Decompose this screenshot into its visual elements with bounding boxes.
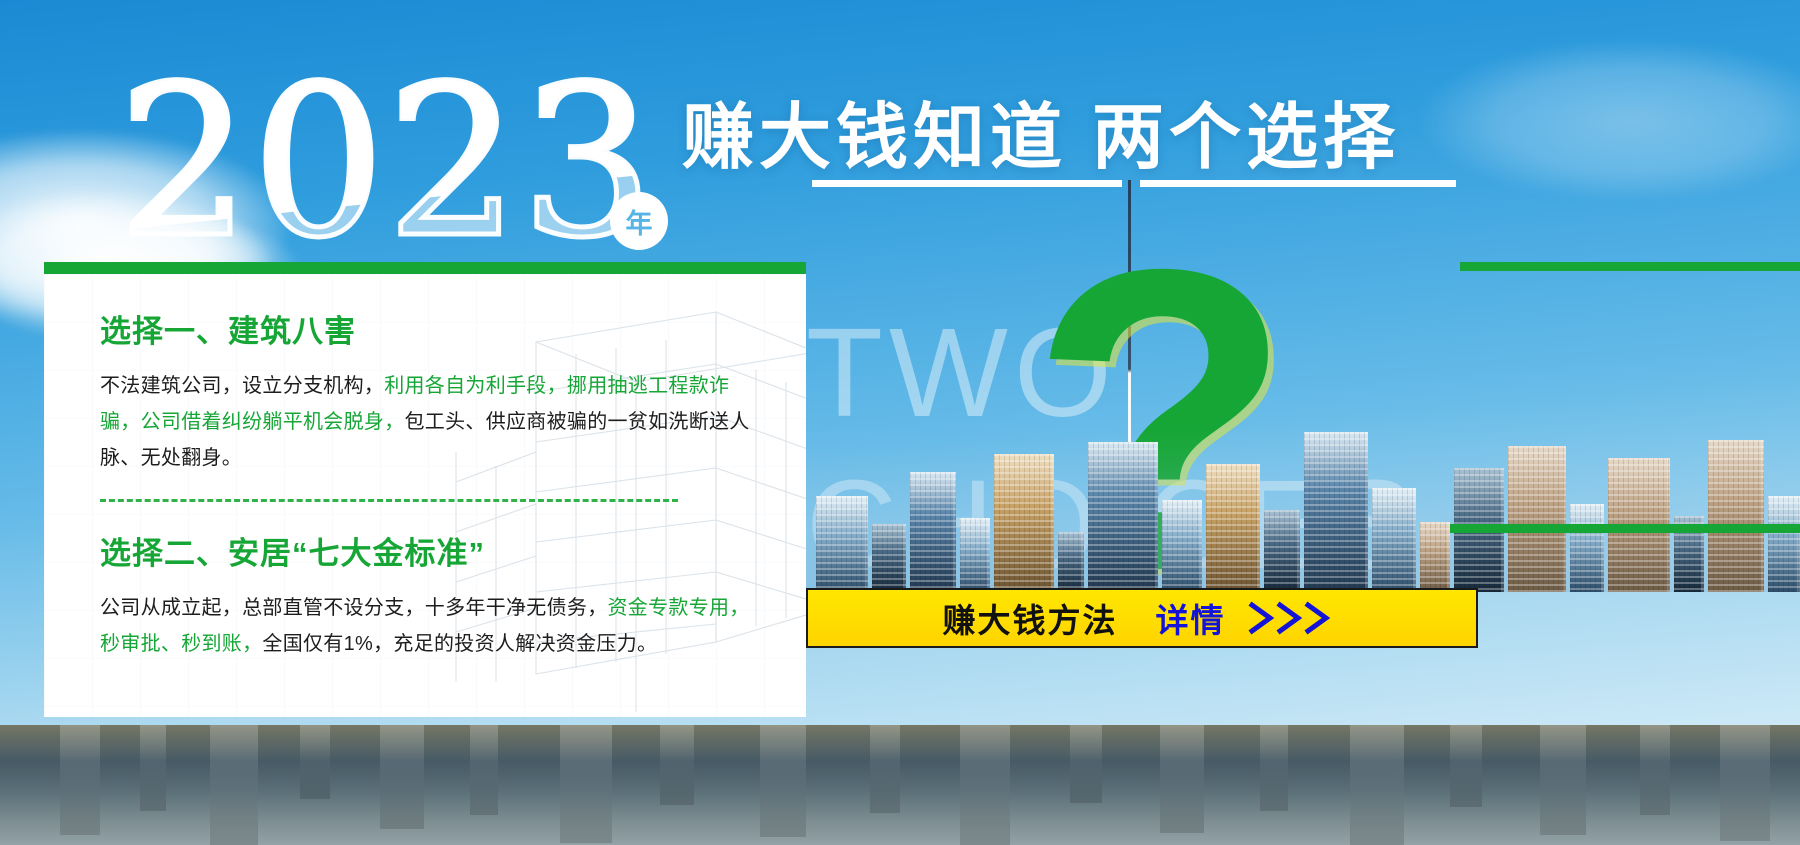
cta-main-label: 赚大钱方法	[943, 594, 1118, 642]
green-accent-bar-top	[1460, 262, 1800, 271]
year-fill-text: 2023	[118, 58, 655, 268]
section-body: 不法建筑公司，设立分支机构，利用各自为利手段，挪用抽逃工程款诈骗，公司借着纠纷躺…	[100, 368, 764, 476]
cta-link-label[interactable]: 详情	[1156, 594, 1226, 642]
section-title: 选择一、建筑八害	[100, 306, 764, 351]
watermark-two: TWO	[806, 300, 1118, 445]
cityscape-image	[806, 430, 1800, 592]
bottom-reflection-strip	[0, 725, 1800, 845]
year-graphic: 2023 2023	[118, 58, 698, 273]
headline-rule-right	[1140, 180, 1456, 187]
cloud-decoration	[1420, 40, 1800, 200]
year-unit-badge: 年	[610, 192, 668, 250]
green-accent-bar-bottom	[1450, 524, 1800, 533]
cta-banner[interactable]: 赚大钱方法 详情	[806, 588, 1478, 648]
poster-root: 2023 2023 年 赚大钱知道 两个选择 TWO CHOICES ?	[0, 0, 1800, 845]
section-choice-one: 选择一、建筑八害 不法建筑公司，设立分支机构，利用各自为利手段，挪用抽逃工程款诈…	[100, 306, 764, 476]
section-body-part: 全国仅有1%，充足的投资人解决资金压力。	[262, 633, 657, 655]
section-divider	[100, 499, 678, 502]
section-body-part: 公司从成立起，总部直管不设分支，十多年干净无债务，	[100, 597, 608, 619]
headline-rule-left	[812, 180, 1122, 187]
section-body: 公司从成立起，总部直管不设分支，十多年干净无债务，资金专款专用，秒审批、秒到账，…	[100, 590, 764, 662]
card-content: 选择一、建筑八害 不法建筑公司，设立分支机构，利用各自为利手段，挪用抽逃工程款诈…	[44, 262, 806, 662]
section-body-part: 不法建筑公司，设立分支机构，	[100, 375, 384, 397]
bottom-glow	[0, 725, 1800, 761]
section-choice-two: 选择二、安居“七大金标准” 公司从成立起，总部直管不设分支，十多年干净无债务，资…	[100, 528, 764, 662]
section-title: 选择二、安居“七大金标准”	[100, 528, 764, 573]
year-outline-text: 2023	[118, 58, 698, 268]
content-card: 选择一、建筑八害 不法建筑公司，设立分支机构，利用各自为利手段，挪用抽逃工程款诈…	[44, 262, 806, 717]
chevron-right-triple-icon	[1246, 598, 1342, 638]
page-title: 赚大钱知道 两个选择	[682, 78, 1400, 183]
